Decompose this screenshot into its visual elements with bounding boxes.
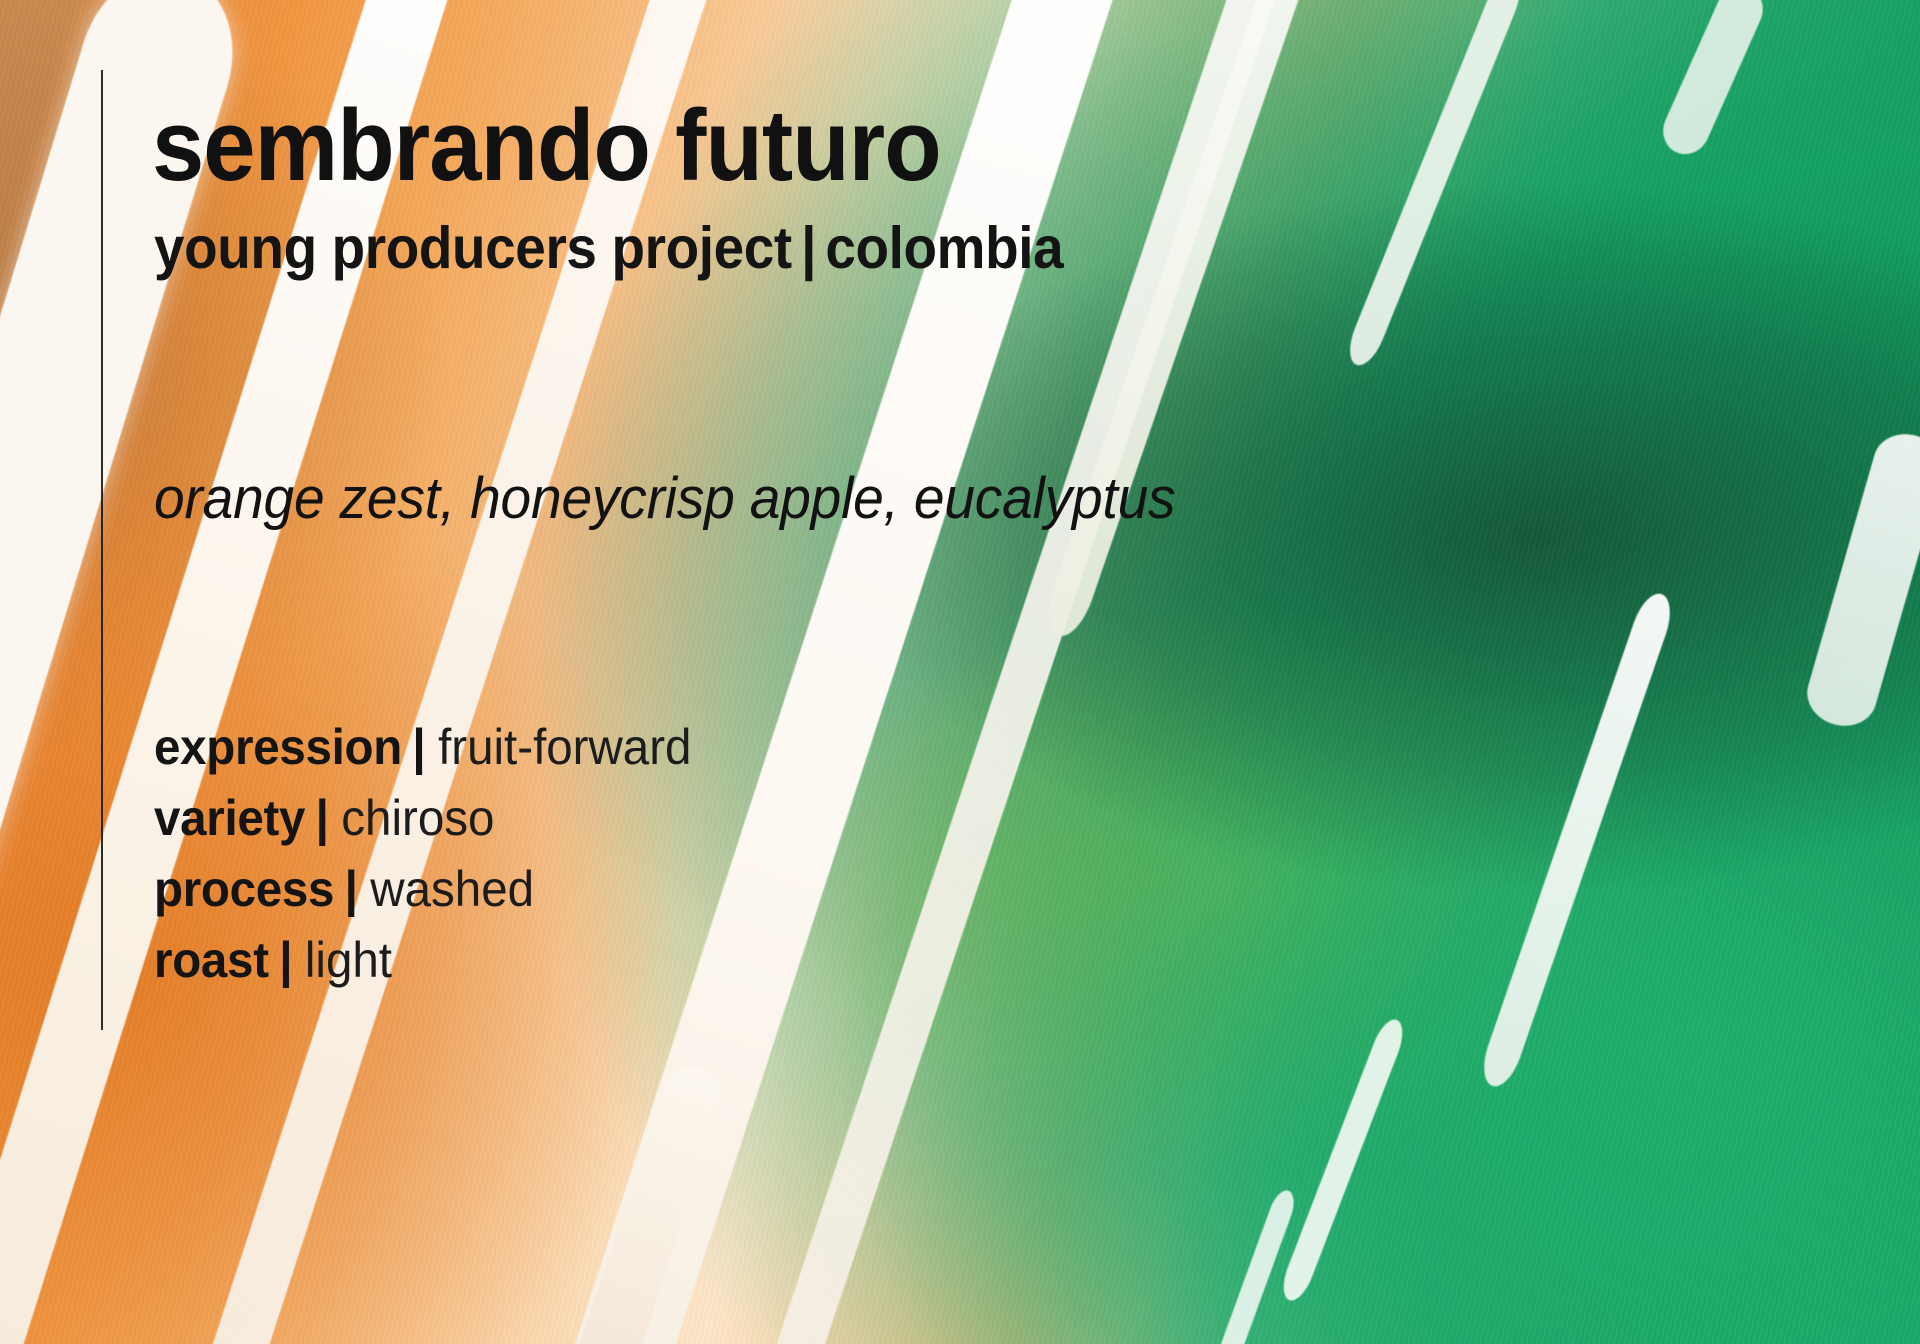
spec-row-roast: roast|light: [154, 925, 691, 996]
subtitle-origin: colombia: [825, 215, 1063, 281]
spec-separator: |: [334, 861, 370, 917]
page-title: sembrando futuro: [152, 96, 941, 197]
spec-row-expression: expression|fruit-forward: [154, 712, 691, 783]
coffee-bag-label: sembrando futuro young producers project…: [0, 0, 1920, 1344]
vertical-rule-divider: [101, 70, 103, 1030]
spec-row-process: process|washed: [154, 854, 691, 925]
subtitle: young producers project|colombia: [154, 219, 1063, 278]
spec-separator: |: [402, 719, 438, 775]
spec-value: light: [305, 932, 392, 988]
spec-separator: |: [269, 932, 305, 988]
label-content: sembrando futuro young producers project…: [152, 0, 1552, 1344]
spec-row-variety: variety|chiroso: [154, 783, 691, 854]
spec-value: chiroso: [341, 790, 494, 846]
spec-value: washed: [370, 861, 534, 917]
subtitle-project: young producers project: [154, 215, 792, 281]
spec-key: roast: [154, 932, 269, 988]
tasting-notes: orange zest, honeycrisp apple, eucalyptu…: [154, 470, 1175, 528]
spec-list: expression|fruit-forward variety|chiroso…: [154, 712, 720, 996]
spec-separator: |: [305, 790, 341, 846]
spec-value: fruit-forward: [438, 719, 691, 775]
spec-key: process: [154, 861, 334, 917]
spec-key: expression: [154, 719, 402, 775]
spec-key: variety: [154, 790, 305, 846]
subtitle-separator: |: [792, 215, 826, 281]
